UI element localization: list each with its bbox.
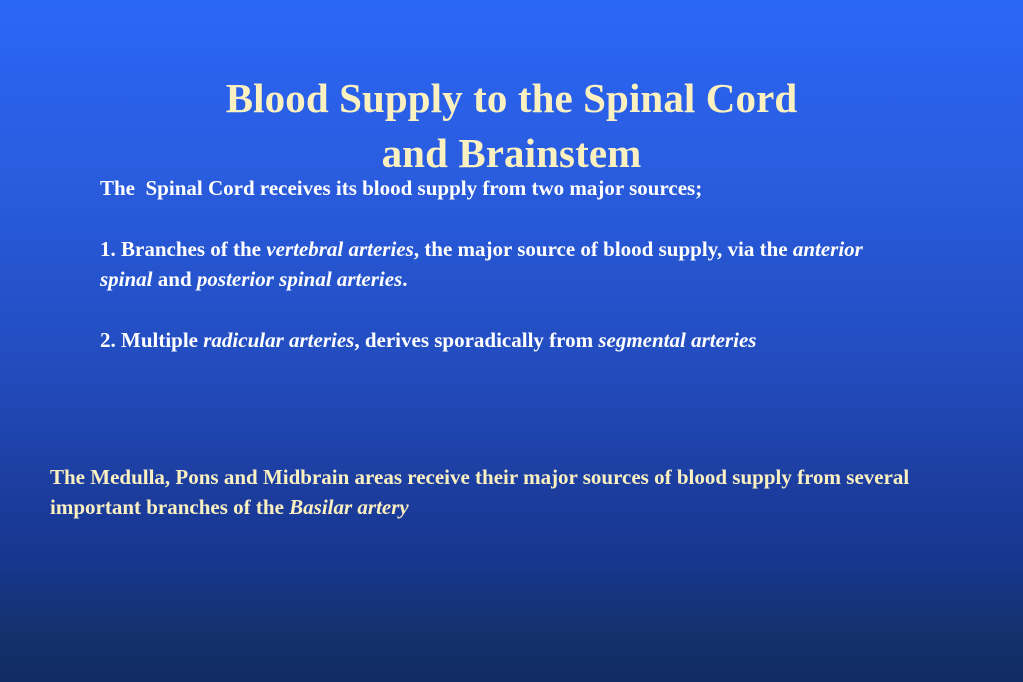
term-segmental-arteries: segmental arteries xyxy=(598,328,756,352)
lead-paragraph-text: The Spinal Cord receives its blood suppl… xyxy=(100,176,702,200)
term-radicular-arteries: radicular arteries xyxy=(203,328,354,352)
lead-paragraph: The Spinal Cord receives its blood suppl… xyxy=(100,173,900,203)
slide-title-line-1: Blood Supply to the Spinal Cord xyxy=(0,71,1023,126)
list-item-2-segment-1: 2. Multiple xyxy=(100,328,203,352)
list-item-1-segment-1: 1. Branches of the xyxy=(100,237,266,261)
list-item-2: 2. Multiple radicular arteries, derives … xyxy=(100,325,900,355)
list-item-2-segment-2: , derives sporadically from xyxy=(354,328,598,352)
list-item-1: 1. Branches of the vertebral arteries, t… xyxy=(100,234,900,294)
list-item-1-segment-4: . xyxy=(402,267,407,291)
term-basilar-artery: Basilar artery xyxy=(289,495,409,519)
brainstem-paragraph: The Medulla, Pons and Midbrain areas rec… xyxy=(50,462,950,522)
slide-canvas: Blood Supply to the Spinal Cord and Brai… xyxy=(0,0,1023,682)
slide-title: Blood Supply to the Spinal Cord and Brai… xyxy=(0,71,1023,181)
body-text-block: The Spinal Cord receives its blood suppl… xyxy=(100,173,900,355)
brainstem-paragraph-segment-1: The Medulla, Pons and Midbrain areas rec… xyxy=(50,465,915,519)
list-item-1-segment-3: and xyxy=(153,267,197,291)
list-item-1-segment-2: , the major source of blood supply, via … xyxy=(414,237,793,261)
term-vertebral-arteries: vertebral arteries xyxy=(266,237,414,261)
term-posterior-spinal-arteries: posterior spinal arteries xyxy=(197,267,402,291)
